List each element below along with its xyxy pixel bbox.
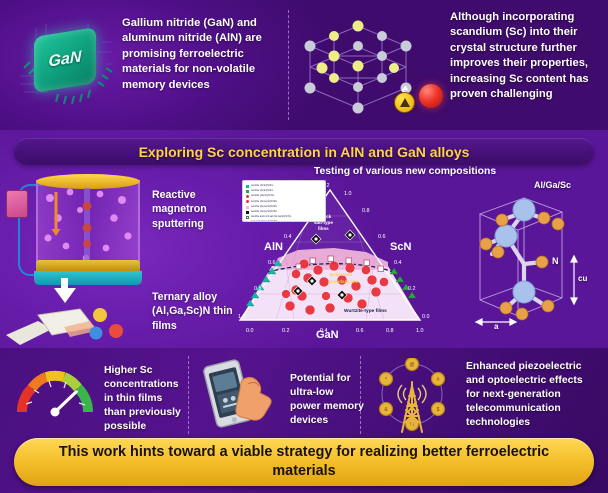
- banner-title: Exploring Sc concentration in AlN and Ga…: [139, 144, 470, 160]
- svg-text:0.2: 0.2: [408, 286, 416, 292]
- anion-label: N: [552, 256, 559, 266]
- cation-label: Al/Ga/Sc: [534, 180, 571, 190]
- power-supply-icon: [6, 190, 28, 218]
- legend-item: wurtzite (Ga,Sc)N film: [246, 194, 322, 199]
- svg-text:0.8: 0.8: [362, 208, 370, 214]
- alloy-label: Ternary alloy (Al,Ga,Sc)N thin films: [152, 290, 242, 333]
- legend-marker-icon: [246, 206, 249, 209]
- wurtzite-unit-cell-illustration: Al/Ga/Sc N cu a: [466, 174, 586, 334]
- bottom-panel-text-1: Higher Sc concentrations in thin films t…: [104, 364, 186, 434]
- legend-marker-icon: [246, 200, 249, 203]
- svg-text:ScN: ScN: [390, 241, 411, 253]
- svg-text:0.0: 0.0: [422, 314, 430, 320]
- svg-text:0.6: 0.6: [378, 234, 386, 240]
- legend-item: rock salt (Al,Ga,Sc)N film: [246, 220, 322, 222]
- svg-text:0.4: 0.4: [284, 234, 292, 240]
- svg-text:boundary line: boundary line: [328, 279, 359, 284]
- ternary-legend: wurtzite (Al,Sc)N film wurtzite (Al,Sc)N…: [242, 180, 326, 222]
- warning-icon: [394, 92, 415, 113]
- svg-text:GaN: GaN: [316, 329, 339, 338]
- legend-item: wurtzite (Al,Ga,Sc)N film: [246, 210, 322, 215]
- svg-text:films: films: [318, 226, 329, 231]
- flow-arrow-icon: [54, 288, 76, 303]
- section-banner: Exploring Sc concentration in AlN and Ga…: [14, 138, 594, 165]
- legend-label: wurtzite (Al,Sc)N film: [251, 189, 273, 194]
- chip-label: GaN: [34, 27, 96, 93]
- conclusion-text: This work hints toward a viable strategy…: [14, 443, 594, 481]
- smartphone-icon: [196, 358, 280, 432]
- svg-text:*: *: [385, 377, 387, 383]
- legend-marker-icon: [246, 211, 249, 214]
- legend-label: wurtzite (Al,Sc)N film: [251, 184, 273, 189]
- top-divider: [288, 10, 289, 120]
- c-axis-label: cu: [578, 274, 587, 283]
- bottom-divider-1: [188, 356, 189, 434]
- svg-text:AlN: AlN: [264, 241, 283, 253]
- legend-label: wurtzite (Al,Ga,Sc)N film: [251, 210, 277, 215]
- legend-marker-icon: [246, 195, 249, 198]
- bottom-section: Higher Sc concentrations in thin films t…: [0, 348, 608, 493]
- svg-text:0.0: 0.0: [246, 328, 254, 334]
- ternary-phase-diagram: 0.21.0 0.20.8 0.40.6 0.60.4 0.80.2 1.00.…: [238, 178, 460, 338]
- svg-text:Estimated: Estimated: [330, 272, 352, 277]
- svg-text:$: $: [437, 407, 440, 413]
- chamber-substrate: [34, 271, 142, 285]
- thin-film-sample-illustration: [4, 305, 144, 351]
- legend-label: wurtzite (Al,Ga,Sc)N film: [251, 200, 277, 205]
- plasma-particles: [36, 184, 140, 272]
- legend-label: wurtzite (Ga,Sc)N film: [251, 194, 274, 199]
- unit-cell-svg: [466, 174, 586, 334]
- legend-item: wurtzite (Al,Ga,Sc)N film: [246, 200, 322, 205]
- legend-label: rock salt (Al,Ga,Sc)N film: [251, 220, 278, 222]
- a-axis-label: a: [494, 322, 498, 331]
- legend-marker-icon: [246, 185, 249, 188]
- top-left-text: Gallium nitride (GaN) and aluminum nitri…: [122, 16, 280, 93]
- svg-text:0.2: 0.2: [282, 328, 290, 334]
- svg-text:#: #: [437, 377, 440, 383]
- bottom-panel-text-2: Potential for ultra-low power memory dev…: [290, 372, 366, 428]
- legend-marker-icon: [246, 190, 249, 193]
- svg-text:1.0: 1.0: [416, 328, 424, 334]
- svg-text:0.6: 0.6: [268, 260, 276, 266]
- warning-triangle-glyph: [400, 98, 410, 107]
- conclusion-banner: This work hints toward a viable strategy…: [14, 438, 594, 486]
- svg-text:Wurtzite-type films: Wurtzite-type films: [344, 308, 387, 314]
- legend-item: wurtzite (Al,Ga,Sc)N film: [246, 205, 322, 210]
- gan-chip-illustration: GaN: [18, 22, 113, 107]
- svg-text:@: @: [409, 362, 414, 368]
- svg-text:1.0: 1.0: [344, 191, 352, 197]
- top-section: GaN Gallium nitride (GaN) and aluminum n…: [0, 0, 608, 130]
- svg-text:1.0: 1.0: [238, 314, 246, 320]
- sputtering-label: Reactive magnetron sputtering: [152, 188, 238, 231]
- infographic-poster: GaN Gallium nitride (GaN) and aluminum n…: [0, 0, 608, 493]
- legend-marker-icon: [246, 221, 249, 222]
- legend-item: wurtzite (Al,Sc)N film: [246, 189, 322, 194]
- legend-label: wurtzite and rock salt (Al,Ga,Sc)N film: [251, 215, 291, 220]
- svg-text:0.6: 0.6: [356, 328, 364, 334]
- legend-item: wurtzite (Al,Sc)N film: [246, 184, 322, 189]
- legend-label: wurtzite (Al,Ga,Sc)N film: [251, 205, 277, 210]
- magnetron-sputtering-illustration: [30, 172, 148, 287]
- top-right-text: Although incorporating scandium (Sc) int…: [450, 10, 602, 103]
- scandium-atom-icon: [419, 84, 443, 108]
- bottom-panel-text-3: Enhanced piezoelectric and optoelectric …: [466, 360, 598, 430]
- legend-item: wurtzite and rock salt (Al,Ga,Sc)N film: [246, 215, 322, 220]
- svg-text:0.8: 0.8: [254, 286, 262, 292]
- svg-text:0.8: 0.8: [386, 328, 394, 334]
- legend-marker-icon: [246, 216, 249, 219]
- svg-text:0.4: 0.4: [394, 260, 402, 266]
- middle-section: Exploring Sc concentration in AlN and Ga…: [0, 130, 608, 348]
- radio-tower-icon: @#$ %&*: [372, 358, 452, 436]
- gauge-icon: [16, 364, 94, 420]
